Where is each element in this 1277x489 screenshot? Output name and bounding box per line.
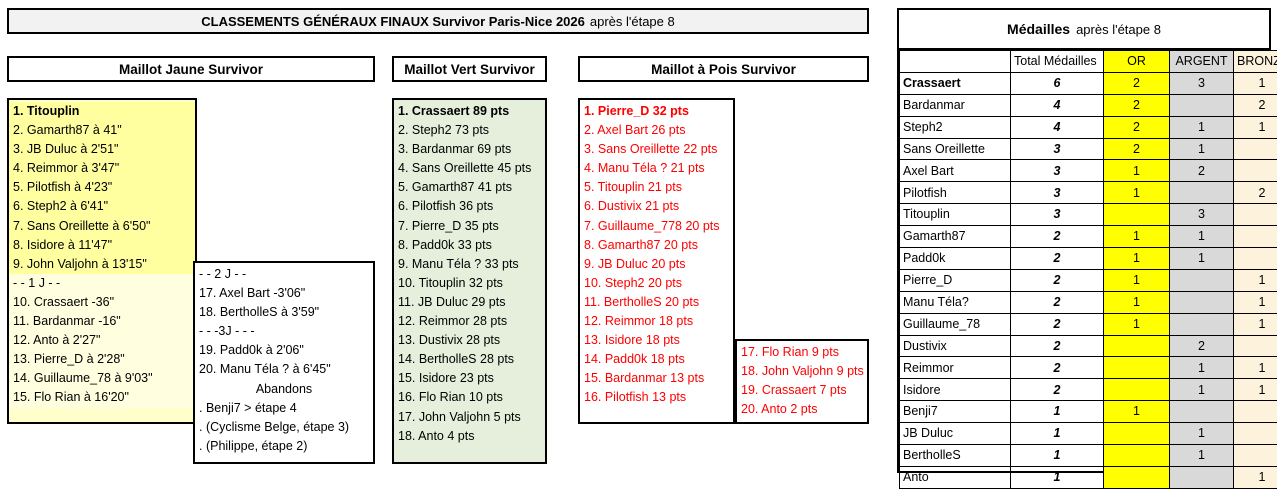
classement-jaune-suite: - - 2 J - -17. Axel Bart -3'06"18. Berth… <box>193 261 375 464</box>
cell-name: Padd0k <box>900 248 1011 270</box>
cell-name: Manu Téla? <box>900 291 1011 313</box>
header-maillot-vert-label: Maillot Vert Survivor <box>404 62 535 77</box>
list-item: 20. Manu Téla ? à 6'45" <box>195 360 373 379</box>
cell-name: Anto <box>900 466 1011 488</box>
cell-or: 2 <box>1104 138 1170 160</box>
cell-argent: 1 <box>1170 423 1234 445</box>
list-item: 13. Dustivix 28 pts <box>394 331 545 350</box>
list-item: 15. Flo Rian à 16'20" <box>9 388 195 407</box>
cell-bronze <box>1234 335 1277 357</box>
cell-argent <box>1170 313 1234 335</box>
list-item: 16. Flo Rian 10 pts <box>394 388 545 407</box>
table-row: Titouplin33 <box>900 204 1277 226</box>
list-item: 10. Crassaert -36" <box>9 293 195 312</box>
cell-argent: 1 <box>1170 116 1234 138</box>
cell-bronze: 1 <box>1234 379 1277 401</box>
medals-table: Total Médailles OR ARGENT BRONZE w Crass… <box>899 50 1277 489</box>
list-item: 2. Steph2 73 pts <box>394 121 545 140</box>
classement-maillot-jaune: 1. Titouplin2. Gamarth87 à 41"3. JB Dulu… <box>7 98 197 424</box>
table-row: Dustivix22 <box>900 335 1277 357</box>
medals-title: Médailles <box>1007 21 1070 37</box>
list-item: 2. Axel Bart 26 pts <box>580 121 733 140</box>
cell-argent <box>1170 94 1234 116</box>
cell-bronze <box>1234 160 1277 182</box>
cell-argent: 3 <box>1170 72 1234 94</box>
cell-name: Sans Oreillette <box>900 138 1011 160</box>
list-item: 18. Anto 4 pts <box>394 427 545 446</box>
col-header-bronze: BRONZE <box>1234 51 1277 73</box>
cell-name: Crassaert <box>900 72 1011 94</box>
list-item: 4. Manu Téla ? 21 pts <box>580 159 733 178</box>
list-item: - - 2 J - - <box>195 265 373 284</box>
cell-argent: 1 <box>1170 357 1234 379</box>
table-row: Axel Bart3121 <box>900 160 1277 182</box>
cell-argent <box>1170 401 1234 423</box>
cell-total: 6 <box>1011 72 1104 94</box>
cell-argent <box>1170 269 1234 291</box>
cell-name: Steph2 <box>900 116 1011 138</box>
list-item: 16. Pilotfish 13 pts <box>580 388 733 407</box>
cell-total: 2 <box>1011 379 1104 401</box>
list-item: 5. Titouplin 21 pts <box>580 178 733 197</box>
cell-name: Reimmor <box>900 357 1011 379</box>
cell-or: 2 <box>1104 94 1170 116</box>
cell-or <box>1104 379 1170 401</box>
list-item: 18. BertholleS à 3'59" <box>195 303 373 322</box>
list-item: . Benji7 > étape 4 <box>195 399 373 418</box>
table-row: Padd0k2111 <box>900 248 1277 270</box>
list-item: 7. Guillaume_778 20 pts <box>580 217 733 236</box>
cell-total: 1 <box>1011 423 1104 445</box>
list-item: - - -3J - - - <box>195 322 373 341</box>
list-item: 17. John Valjohn 5 pts <box>394 408 545 427</box>
table-row: BertholleS11 <box>900 445 1277 467</box>
cell-bronze <box>1234 204 1277 226</box>
cell-argent: 1 <box>1170 138 1234 160</box>
list-item: 1. Crassaert 89 pts <box>394 102 545 121</box>
classement-jaune-lapped-group: - - 1 J - -10. Crassaert -36"11. Bardanm… <box>9 274 195 408</box>
cell-argent: 1 <box>1170 379 1234 401</box>
cell-bronze: 1 <box>1234 313 1277 335</box>
page-title-suffix: après l'étape 8 <box>590 14 675 29</box>
list-item: 9. Manu Téla ? 33 pts <box>394 255 545 274</box>
cell-name: BertholleS <box>900 445 1011 467</box>
cell-or: 1 <box>1104 401 1170 423</box>
cell-argent: 2 <box>1170 335 1234 357</box>
cell-or: 1 <box>1104 313 1170 335</box>
cell-or <box>1104 445 1170 467</box>
list-item: 3. Bardanmar 69 pts <box>394 140 545 159</box>
cell-name: Guillaume_78 <box>900 313 1011 335</box>
list-item: 5. Gamarth87 41 pts <box>394 178 545 197</box>
list-item: 8. Padd0k 33 pts <box>394 236 545 255</box>
list-item: 10. Steph2 20 pts <box>580 274 733 293</box>
list-item: 1. Titouplin <box>9 102 195 121</box>
list-item: 11. JB Duluc 29 pts <box>394 293 545 312</box>
list-item: 12. Reimmor 28 pts <box>394 312 545 331</box>
cell-or: 2 <box>1104 72 1170 94</box>
list-item: 12. Reimmor 18 pts <box>580 312 733 331</box>
cell-bronze: 1 <box>1234 72 1277 94</box>
page-title: CLASSEMENTS GÉNÉRAUX FINAUX Survivor Par… <box>201 14 585 29</box>
list-item: . (Cyclisme Belge, étape 3) <box>195 418 373 437</box>
list-item: 1. Pierre_D 32 pts <box>580 102 733 121</box>
table-row: Crassaert62311 <box>900 72 1277 94</box>
cell-total: 2 <box>1011 313 1104 335</box>
cell-bronze <box>1234 248 1277 270</box>
list-item: 4. Reimmor à 3'47" <box>9 159 195 178</box>
list-item: 17. Axel Bart -3'06" <box>195 284 373 303</box>
cell-bronze: 1 <box>1234 116 1277 138</box>
list-item: 6. Steph2 à 6'41" <box>9 197 195 216</box>
cell-total: 2 <box>1011 335 1104 357</box>
table-row: Steph242111 <box>900 116 1277 138</box>
cell-argent: 1 <box>1170 226 1234 248</box>
cell-or: 2 <box>1104 116 1170 138</box>
cell-argent: 2 <box>1170 160 1234 182</box>
cell-total: 4 <box>1011 94 1104 116</box>
list-item: 7. Pierre_D 35 pts <box>394 217 545 236</box>
table-row: Anto11 <box>900 466 1277 488</box>
cell-bronze: 1 <box>1234 466 1277 488</box>
cell-argent: 1 <box>1170 445 1234 467</box>
list-item: 5. Pilotfish à 4'23" <box>9 178 195 197</box>
col-header-argent: ARGENT <box>1170 51 1234 73</box>
cell-name: Gamarth87 <box>900 226 1011 248</box>
cell-name: Isidore <box>900 379 1011 401</box>
cell-argent <box>1170 182 1234 204</box>
cell-bronze <box>1234 423 1277 445</box>
list-item: 14. BertholleS 28 pts <box>394 350 545 369</box>
cell-total: 2 <box>1011 291 1104 313</box>
list-item: 14. Guillaume_78 à 9'03" <box>9 369 195 388</box>
table-row: Reimmor211 <box>900 357 1277 379</box>
list-item: 9. JB Duluc 20 pts <box>580 255 733 274</box>
cell-or: 1 <box>1104 182 1170 204</box>
table-row: Gamarth872111 <box>900 226 1277 248</box>
col-header-name <box>900 51 1011 73</box>
list-item: 8. Isidore à 11'47" <box>9 236 195 255</box>
cell-bronze: 2 <box>1234 182 1277 204</box>
cell-argent <box>1170 466 1234 488</box>
table-row: Pilotfish312 <box>900 182 1277 204</box>
table-row: Bardanmar4222 <box>900 94 1277 116</box>
list-item: 19. Crassaert 7 pts <box>737 381 867 400</box>
cell-or <box>1104 466 1170 488</box>
cell-or: 1 <box>1104 160 1170 182</box>
list-item: 6. Dustivix 21 pts <box>580 197 733 216</box>
table-row: Pierre_D2111 <box>900 269 1277 291</box>
cell-bronze <box>1234 138 1277 160</box>
cell-bronze: 2 <box>1234 94 1277 116</box>
cell-or <box>1104 357 1170 379</box>
cell-or <box>1104 204 1170 226</box>
cell-total: 4 <box>1011 116 1104 138</box>
cell-total: 3 <box>1011 138 1104 160</box>
page-title-banner: CLASSEMENTS GÉNÉRAUX FINAUX Survivor Par… <box>7 8 869 34</box>
cell-total: 1 <box>1011 401 1104 423</box>
list-item: 14. Padd0k 18 pts <box>580 350 733 369</box>
cell-argent <box>1170 291 1234 313</box>
cell-bronze <box>1234 226 1277 248</box>
list-item: 8. Gamarth87 20 pts <box>580 236 733 255</box>
list-item: 6. Pilotfish 36 pts <box>394 197 545 216</box>
list-item: 15. Bardanmar 13 pts <box>580 369 733 388</box>
cell-total: 2 <box>1011 248 1104 270</box>
cell-or: 1 <box>1104 248 1170 270</box>
cell-total: 1 <box>1011 445 1104 467</box>
header-maillot-jaune-label: Maillot Jaune Survivor <box>119 62 263 77</box>
medals-table-body: Crassaert62311Bardanmar4222Steph242111Sa… <box>900 72 1277 488</box>
table-row: Manu Téla?2111 <box>900 291 1277 313</box>
cell-or: 1 <box>1104 291 1170 313</box>
list-item: 11. Bardanmar -16" <box>9 312 195 331</box>
cell-bronze: 1 <box>1234 291 1277 313</box>
cell-bronze <box>1234 445 1277 467</box>
list-item: - - 1 J - - <box>9 274 195 293</box>
cell-total: 2 <box>1011 357 1104 379</box>
cell-total: 3 <box>1011 182 1104 204</box>
list-item: 13. Pierre_D à 2'28" <box>9 350 195 369</box>
list-item: 3. JB Duluc à 2'51" <box>9 140 195 159</box>
list-item: . (Philippe, étape 2) <box>195 437 373 456</box>
medals-title-bar: Médailles après l'étape 8 <box>899 10 1269 50</box>
cell-argent: 1 <box>1170 248 1234 270</box>
col-header-total: Total Médailles <box>1011 51 1104 73</box>
cell-bronze: 1 <box>1234 357 1277 379</box>
list-item: 13. Isidore 18 pts <box>580 331 733 350</box>
list-item: 19. Padd0k à 2'06" <box>195 341 373 360</box>
cell-or: 1 <box>1104 226 1170 248</box>
header-maillot-vert: Maillot Vert Survivor <box>392 56 547 82</box>
list-item: 9. John Valjohn à 13'15" <box>9 255 195 274</box>
table-row: JB Duluc11 <box>900 423 1277 445</box>
classement-maillot-pois-suite: 17. Flo Rian 9 pts18. John Valjohn 9 pts… <box>735 339 869 424</box>
cell-name: Benji7 <box>900 401 1011 423</box>
medals-title-suffix: après l'étape 8 <box>1076 22 1161 37</box>
cell-name: Axel Bart <box>900 160 1011 182</box>
cell-total: 2 <box>1011 226 1104 248</box>
cell-bronze <box>1234 401 1277 423</box>
cell-total: 3 <box>1011 160 1104 182</box>
classement-jaune-top-group: 1. Titouplin2. Gamarth87 à 41"3. JB Dulu… <box>9 102 195 274</box>
classement-maillot-vert: 1. Crassaert 89 pts2. Steph2 73 pts3. Ba… <box>392 98 547 464</box>
cell-name: Titouplin <box>900 204 1011 226</box>
list-item: 18. John Valjohn 9 pts <box>737 362 867 381</box>
header-maillot-pois: Maillot à Pois Survivor <box>578 56 869 82</box>
cell-name: Pilotfish <box>900 182 1011 204</box>
medals-table-header-row: Total Médailles OR ARGENT BRONZE w <box>900 51 1277 73</box>
cell-argent: 3 <box>1170 204 1234 226</box>
table-row: Isidore211 <box>900 379 1277 401</box>
cell-name: Pierre_D <box>900 269 1011 291</box>
cell-total: 3 <box>1011 204 1104 226</box>
list-item: 12. Anto à 2'27" <box>9 331 195 350</box>
cell-or <box>1104 335 1170 357</box>
medals-panel: Médailles après l'étape 8 Total Médaille… <box>897 8 1271 473</box>
list-item: 11. BertholleS 20 pts <box>580 293 733 312</box>
list-item: Abandons <box>195 380 373 399</box>
list-item: 3. Sans Oreillette 22 pts <box>580 140 733 159</box>
cell-or <box>1104 423 1170 445</box>
list-item: 10. Titouplin 32 pts <box>394 274 545 293</box>
table-row: Guillaume_782111 <box>900 313 1277 335</box>
cell-name: Bardanmar <box>900 94 1011 116</box>
header-maillot-jaune: Maillot Jaune Survivor <box>7 56 375 82</box>
list-item: 7. Sans Oreillette à 6'50" <box>9 217 195 236</box>
header-maillot-pois-label: Maillot à Pois Survivor <box>651 62 796 77</box>
cell-or: 1 <box>1104 269 1170 291</box>
cell-bronze: 1 <box>1234 269 1277 291</box>
cell-name: Dustivix <box>900 335 1011 357</box>
list-item: 15. Isidore 23 pts <box>394 369 545 388</box>
classement-maillot-pois: 1. Pierre_D 32 pts2. Axel Bart 26 pts3. … <box>578 98 735 424</box>
list-item: 2. Gamarth87 à 41" <box>9 121 195 140</box>
cell-name: JB Duluc <box>900 423 1011 445</box>
cell-total: 1 <box>1011 466 1104 488</box>
col-header-or: OR <box>1104 51 1170 73</box>
cell-total: 2 <box>1011 269 1104 291</box>
list-item: 4. Sans Oreillette 45 pts <box>394 159 545 178</box>
list-item: 17. Flo Rian 9 pts <box>737 343 867 362</box>
table-row: Benji7111 <box>900 401 1277 423</box>
list-item: 20. Anto 2 pts <box>737 400 867 419</box>
table-row: Sans Oreillette3212 <box>900 138 1277 160</box>
